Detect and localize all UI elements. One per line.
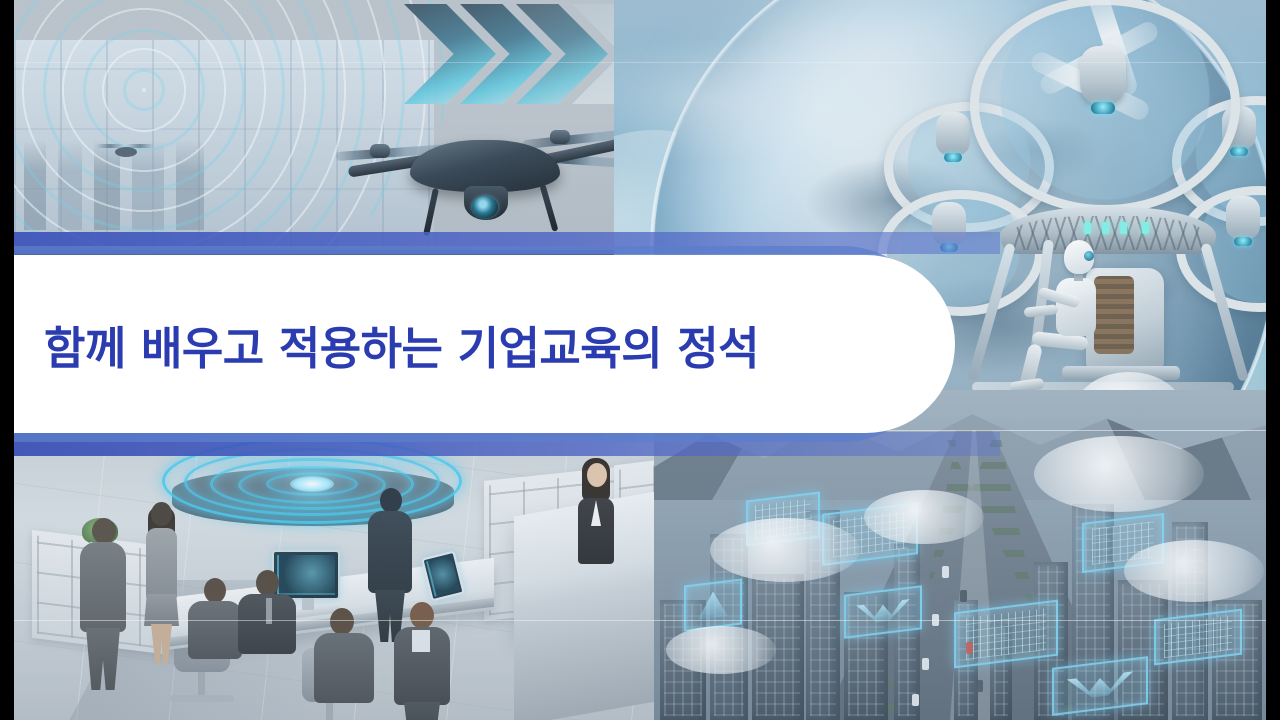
panel-seam xyxy=(14,620,1266,621)
panel-seam xyxy=(14,62,1266,63)
cloud xyxy=(1034,436,1204,512)
frame-edge-left xyxy=(0,0,14,720)
person-receptionist xyxy=(574,458,618,586)
humanoid-robot xyxy=(1024,240,1134,390)
title-banner: 함께 배우고 적용하는 기업교육의 정석 xyxy=(0,232,1000,462)
rotor-hub xyxy=(1080,46,1126,106)
person-standing-left xyxy=(76,518,130,688)
presentation-slide: 함께 배우고 적용하는 기업교육의 정석 xyxy=(0,0,1280,720)
cloud xyxy=(666,626,776,674)
quadcopter-drone xyxy=(332,112,632,242)
slide-title: 함께 배우고 적용하는 기업교육의 정석 xyxy=(44,312,759,377)
person-seated-2 xyxy=(236,570,298,666)
person-seated-3 xyxy=(314,608,380,718)
cloud xyxy=(1124,540,1264,602)
region-office-drone xyxy=(14,0,674,250)
banner-pill: 함께 배우고 적용하는 기업교육의 정석 xyxy=(0,255,955,433)
holographic-panel xyxy=(684,578,742,631)
cloud xyxy=(864,490,984,544)
cloud xyxy=(710,518,860,582)
frame-edge-right xyxy=(1266,0,1280,720)
person-walking-woman xyxy=(140,502,182,662)
mini-drone-icon xyxy=(98,140,152,162)
